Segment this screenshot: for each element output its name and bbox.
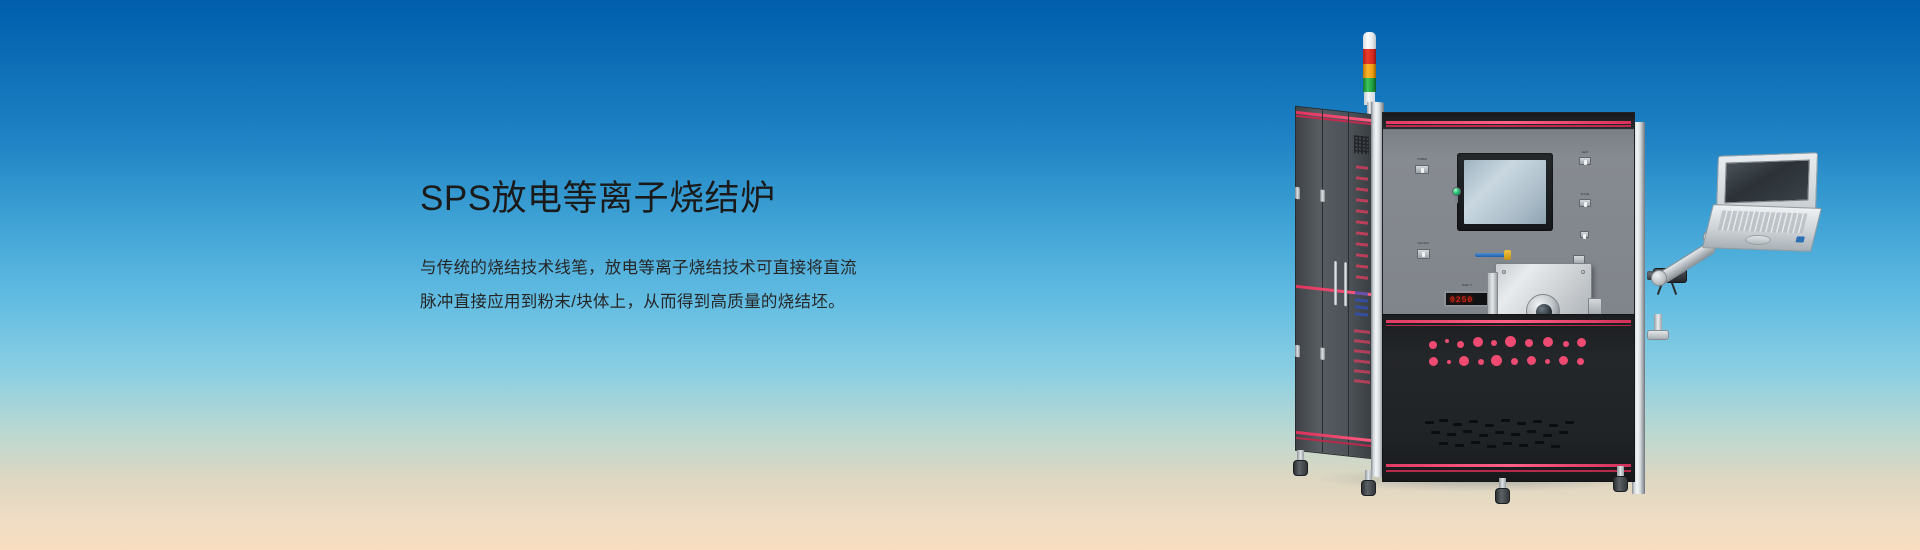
cabinet-label-column-blue <box>1355 291 1368 318</box>
signal-tower-icon <box>1363 32 1376 105</box>
switch-label-power: POWER <box>1411 158 1433 161</box>
cabinet-handle-left[interactable] <box>1334 261 1337 305</box>
green-indicator-lamp <box>1452 187 1461 196</box>
camera-tripod-leg-2 <box>1671 282 1677 295</box>
cabinet-label-column-lower <box>1354 329 1370 391</box>
toggle-switch-vacuum[interactable] <box>1417 249 1430 259</box>
cabinet-label-column-red <box>1356 165 1368 286</box>
caster-front-left <box>1361 470 1376 496</box>
banner-text-block: SPS放电等离子烧结炉 与传统的烧结技术线笔，放电等离子烧结技术可直接将直流 脉… <box>420 178 1040 320</box>
panel-top-accent-stripe-thin <box>1386 125 1631 127</box>
side-cabinet <box>1295 106 1373 459</box>
signal-tower-cap <box>1363 32 1376 49</box>
cabinet-vent-perforation <box>1354 135 1369 155</box>
banner-description-line-1: 与传统的烧结技术线笔，放电等离子烧结技术可直接将直流 <box>420 252 1040 286</box>
chamber-bolt-tr <box>1581 270 1585 274</box>
switch-label-vacuum: VACUUM <box>1412 242 1434 245</box>
toggle-switch-heat[interactable] <box>1579 157 1591 165</box>
hmi-display-bezel <box>1457 153 1553 231</box>
banner-description-line-2: 脉冲直接应用到粉末/块体上，从而得到高质量的烧结坯。 <box>420 286 1040 320</box>
lower-panel-top-stripe <box>1386 320 1631 323</box>
cabinet-door-seam-2 <box>1348 113 1349 456</box>
lower-panel-bottom-stripe-thin <box>1386 470 1631 472</box>
cabinet-handle-right[interactable] <box>1344 262 1347 306</box>
readout-label: TEMP °C <box>1445 284 1489 287</box>
valve-knob-upper[interactable] <box>1504 250 1511 260</box>
control-laptop <box>1707 154 1817 254</box>
digital-readout: 0250 <box>1444 291 1490 307</box>
page-title: SPS放电等离子烧结炉 <box>420 178 1040 220</box>
chamber-bolt-tl <box>1502 270 1506 274</box>
valve-pipe-upper <box>1475 253 1505 257</box>
signal-tower-green-light <box>1363 78 1376 92</box>
toggle-switch-alarm[interactable] <box>1580 231 1589 238</box>
signal-tower-red-light <box>1363 49 1376 64</box>
arm-mount-clamp <box>1647 330 1669 340</box>
toggle-switch-pulse[interactable] <box>1579 199 1591 207</box>
toggle-switch-power[interactable] <box>1415 165 1429 174</box>
laptop-screen[interactable] <box>1724 160 1810 204</box>
product-image-sps-furnace: POWER VACUUM COOL 0250 TEMP °C HEAT PULS… <box>1255 14 1775 550</box>
cabinet-hinge-mid-upper <box>1320 189 1325 202</box>
cabinet-hinge-mid-lower <box>1320 347 1325 360</box>
banner-description: 与传统的烧结技术线笔，放电等离子烧结技术可直接将直流 脉冲直接应用到粉末/块体上… <box>420 252 1040 320</box>
laptop-base <box>1702 204 1822 252</box>
digital-readout-value: 0250 <box>1450 296 1473 305</box>
laptop-badge-icon <box>1795 236 1804 242</box>
caster-rear-left <box>1293 450 1308 476</box>
cabinet-door-seam-1 <box>1322 110 1323 453</box>
panel-top-accent-stripe <box>1386 121 1631 124</box>
switch-label-heat: HEAT <box>1574 151 1596 154</box>
signal-tower-amber-light <box>1363 64 1376 78</box>
lower-panel-bottom-stripe <box>1386 464 1631 467</box>
laptop-keyboard[interactable] <box>1717 210 1807 233</box>
laptop-trackpad[interactable] <box>1744 235 1772 246</box>
caster-front-right <box>1613 466 1628 492</box>
cabinet-hinge-upper <box>1295 187 1300 200</box>
lower-equipment-panel <box>1382 314 1635 482</box>
green-indicator-stem <box>1455 196 1458 203</box>
arm-pole-mount <box>1647 314 1669 360</box>
hmi-touchscreen[interactable] <box>1464 160 1546 224</box>
switch-label-pulse: PULSE <box>1574 193 1596 196</box>
cabinet-hinge-lower <box>1295 345 1300 358</box>
lower-panel-top-stripe-thin <box>1386 325 1631 327</box>
arm-joint-base <box>1651 270 1667 286</box>
caster-front-mid <box>1495 478 1510 504</box>
